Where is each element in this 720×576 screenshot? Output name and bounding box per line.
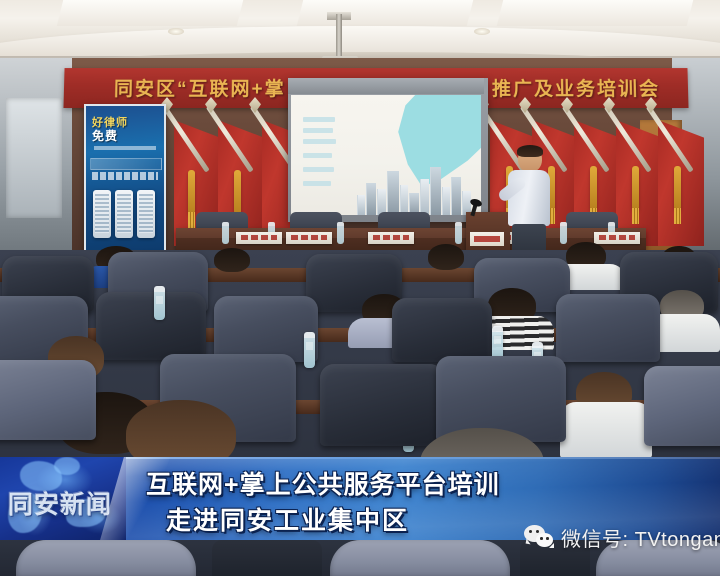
audience-shirt [560, 402, 652, 458]
slide-text-line [303, 153, 332, 158]
foreground-seat [16, 540, 196, 576]
table-name-card [368, 232, 414, 244]
audience-seat [392, 298, 492, 362]
flag-tassel [590, 166, 597, 210]
slide-text-line [303, 128, 333, 133]
slide-building [442, 187, 450, 215]
rollup-poster: 好律师 免费 [84, 104, 166, 258]
audience-seat [320, 364, 444, 446]
ceiling [0, 0, 720, 62]
ceiling-panel [297, 0, 473, 26]
channel-logo-text: 同安新闻 [8, 485, 120, 515]
flag-rod [206, 105, 254, 172]
poster-phone-mockup [115, 190, 133, 238]
water-bottle [337, 222, 344, 244]
slide-building [451, 177, 461, 215]
poster-phone-mockup [93, 190, 111, 238]
projector-mount-rod [336, 14, 342, 58]
slide-text-line [303, 117, 335, 122]
slide-building [430, 167, 441, 215]
flag-tassel [234, 170, 241, 214]
wall-panel-left [0, 58, 72, 258]
audience-seat [214, 296, 318, 362]
projection-screen-housing [288, 78, 484, 94]
ceiling-panel [497, 0, 693, 26]
audience-seat [0, 360, 96, 440]
poster-subtitle-bar [94, 146, 156, 150]
broadcast-screenshot: 同安区“互联网+掌 推广及业务培训会 [0, 0, 720, 576]
slide-text-line [303, 181, 331, 186]
water-bottle [154, 286, 165, 320]
podium-sign [470, 232, 504, 246]
slide-building [420, 179, 429, 215]
flag-rod [604, 105, 652, 172]
flag-rod [646, 105, 694, 172]
speaker-presenter [500, 146, 562, 258]
audience-seat [556, 294, 660, 362]
projection-screen-slide [291, 95, 481, 215]
ceiling-panel [57, 0, 243, 26]
poster-headline-bottom: 免费 [92, 127, 118, 144]
wechat-bubble-tail [526, 539, 532, 545]
stage-banner-right-text: 推广及业务培训会 [492, 74, 660, 101]
globe-landmass [54, 457, 80, 475]
wechat-bubble-tail [549, 543, 554, 548]
wechat-watermark: 微信号: TVtongan [524, 521, 720, 553]
flag-tassel [674, 166, 681, 210]
slide-building [357, 195, 365, 215]
headline-line-2: 走进同安工业集中区 [166, 501, 409, 537]
poster-phone-mockup [137, 190, 155, 238]
slide-building [366, 183, 376, 215]
slide-building [387, 171, 399, 215]
poster-headline-block: 好律师 免费 [90, 114, 160, 140]
flag-rod [562, 105, 610, 172]
stage-banner-left-text: 同安区“互联网+掌 [114, 74, 286, 101]
headline-line-1: 互联网+掌上公共服务平台培训 [146, 465, 500, 501]
poster-section-title [92, 172, 158, 180]
slide-building [400, 185, 408, 215]
table-name-card [594, 232, 640, 244]
flag-pole [648, 104, 718, 234]
table-name-card [286, 232, 332, 244]
audience-head [214, 248, 250, 272]
slide-text-line [303, 139, 336, 144]
audience-seat [96, 292, 206, 360]
audience-head [428, 244, 464, 270]
table-name-card [236, 232, 282, 244]
slide-skyline-illustration [355, 161, 473, 215]
slide-text-line [303, 167, 334, 172]
flag [652, 104, 710, 254]
ceiling-light [474, 28, 490, 35]
flag-rod [162, 105, 210, 172]
wechat-icon [524, 525, 554, 549]
flag-tassel [632, 166, 639, 210]
foreground-seat-dark [212, 540, 322, 576]
ceiling-light [168, 28, 184, 35]
water-bottle [222, 222, 229, 244]
audience-seat [644, 366, 720, 446]
foreground-seat [330, 540, 510, 576]
wechat-id-text: 微信号: TVtongan [561, 523, 720, 552]
flag-tassel [188, 170, 195, 214]
poster-band [90, 158, 162, 170]
water-bottle [304, 332, 315, 368]
water-bottle [455, 222, 462, 244]
speaker-hair [517, 145, 543, 157]
